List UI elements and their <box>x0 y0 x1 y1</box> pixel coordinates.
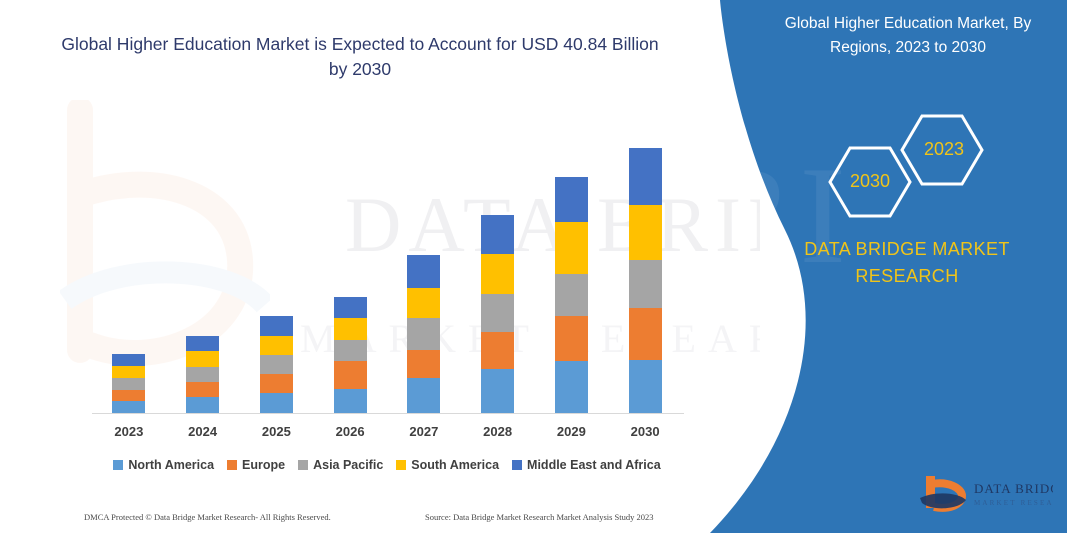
bar-segment <box>260 355 293 374</box>
bar-segment <box>629 148 662 205</box>
stacked-bar <box>112 354 145 413</box>
bar-segment <box>112 378 145 390</box>
bar-segment <box>334 297 367 318</box>
bar-segment <box>555 177 588 222</box>
chart-footer: DMCA Protected © Data Bridge Market Rese… <box>0 507 760 527</box>
x-axis-tick-label: 2028 <box>461 424 534 439</box>
stacked-bar <box>260 316 293 413</box>
bar-segment <box>407 288 440 318</box>
brand-name: DATA BRIDGE MARKET RESEARCH <box>762 236 1052 290</box>
brand-panel: RI Global Higher Education Market, By Re… <box>690 0 1067 533</box>
bar-column <box>535 120 608 413</box>
bar-segment <box>481 254 514 294</box>
bar-segment <box>186 382 219 397</box>
footer-source-text: Source: Data Bridge Market Research Mark… <box>425 512 654 522</box>
bar-column <box>387 120 460 413</box>
bar-segment <box>260 336 293 355</box>
legend-item[interactable]: Europe <box>227 458 285 472</box>
legend-swatch-icon <box>227 460 237 470</box>
bar-segment <box>334 340 367 361</box>
hexagon-shapes <box>802 112 1032 222</box>
logo-mark-icon: DATA BRIDGE MARKET RESEARCH <box>918 472 1053 516</box>
hexagon-label-2023: 2023 <box>924 139 964 160</box>
bar-segment <box>629 308 662 360</box>
stacked-bar <box>407 255 440 413</box>
chart-legend: North AmericaEuropeAsia PacificSouth Ame… <box>92 455 682 475</box>
bar-segment <box>629 260 662 308</box>
bar-segment <box>260 393 293 413</box>
brand-panel-title: Global Higher Education Market, By Regio… <box>758 12 1058 60</box>
x-axis-tick-label: 2030 <box>609 424 682 439</box>
brand-name-line1: DATA BRIDGE MARKET <box>762 236 1052 263</box>
stacked-bar <box>555 177 588 413</box>
legend-item[interactable]: Asia Pacific <box>298 458 383 472</box>
bar-segment <box>260 374 293 393</box>
bar-segment <box>112 390 145 401</box>
bar-segment <box>186 397 219 413</box>
bar-column <box>461 120 534 413</box>
stacked-bar <box>481 215 514 413</box>
bar-segment <box>629 205 662 260</box>
bar-column <box>92 120 165 413</box>
bar-segment <box>186 336 219 351</box>
bar-segment <box>481 332 514 369</box>
bar-segment <box>555 361 588 413</box>
legend-label: South America <box>411 458 499 472</box>
footer-dmca-text: DMCA Protected © Data Bridge Market Rese… <box>84 512 331 522</box>
bar-segment <box>481 369 514 413</box>
svg-text:MARKET RESEARCH: MARKET RESEARCH <box>974 499 1053 507</box>
bar-segment <box>555 274 588 316</box>
bar-segment <box>334 361 367 389</box>
bar-segment <box>186 351 219 367</box>
x-axis-tick-label: 2026 <box>314 424 387 439</box>
bar-segment <box>407 318 440 350</box>
legend-label: Middle East and Africa <box>527 458 661 472</box>
bar-segment <box>112 401 145 413</box>
legend-swatch-icon <box>113 460 123 470</box>
x-axis-line <box>92 413 684 414</box>
x-axis-labels: 20232024202520262027202820292030 <box>92 420 682 442</box>
bar-segment <box>555 222 588 274</box>
bar-column <box>609 120 682 413</box>
bar-segment <box>629 360 662 413</box>
stacked-bar <box>334 297 367 413</box>
chart-title: Global Higher Education Market is Expect… <box>60 32 660 82</box>
bar-column <box>240 120 313 413</box>
legend-item[interactable]: Middle East and Africa <box>512 458 661 472</box>
x-axis-tick-label: 2023 <box>92 424 165 439</box>
bar-segment <box>555 316 588 361</box>
legend-label: Asia Pacific <box>313 458 383 472</box>
bar-segment <box>334 318 367 340</box>
stacked-bars-container <box>92 120 682 413</box>
svg-text:DATA BRIDGE: DATA BRIDGE <box>974 481 1053 496</box>
bar-segment <box>186 367 219 382</box>
bar-segment <box>481 215 514 254</box>
bar-segment <box>112 354 145 366</box>
hexagon-label-2030: 2030 <box>850 171 890 192</box>
legend-swatch-icon <box>396 460 406 470</box>
infographic-root: DATA BRIDGE MARKET RESEARCH Global Highe… <box>0 0 1067 533</box>
x-axis-tick-label: 2027 <box>387 424 460 439</box>
bar-segment <box>407 350 440 378</box>
bar-segment <box>407 378 440 413</box>
x-axis-tick-label: 2025 <box>240 424 313 439</box>
legend-swatch-icon <box>298 460 308 470</box>
chart-panel: DATA BRIDGE MARKET RESEARCH Global Highe… <box>0 0 760 533</box>
x-axis-tick-label: 2029 <box>535 424 608 439</box>
stacked-bar <box>629 148 662 413</box>
x-axis-tick-label: 2024 <box>166 424 239 439</box>
bar-segment <box>481 294 514 332</box>
bar-segment <box>334 389 367 413</box>
legend-swatch-icon <box>512 460 522 470</box>
bar-column <box>166 120 239 413</box>
bar-segment <box>407 255 440 288</box>
legend-item[interactable]: North America <box>113 458 214 472</box>
brand-name-line2: RESEARCH <box>762 263 1052 290</box>
legend-item[interactable]: South America <box>396 458 499 472</box>
hexagon-group: 2023 2030 <box>802 112 1032 222</box>
stacked-bar <box>186 336 219 413</box>
bar-segment <box>112 366 145 378</box>
legend-label: North America <box>128 458 214 472</box>
legend-label: Europe <box>242 458 285 472</box>
bar-column <box>314 120 387 413</box>
bar-segment <box>260 316 293 336</box>
data-bridge-logo: DATA BRIDGE MARKET RESEARCH <box>918 472 1053 516</box>
